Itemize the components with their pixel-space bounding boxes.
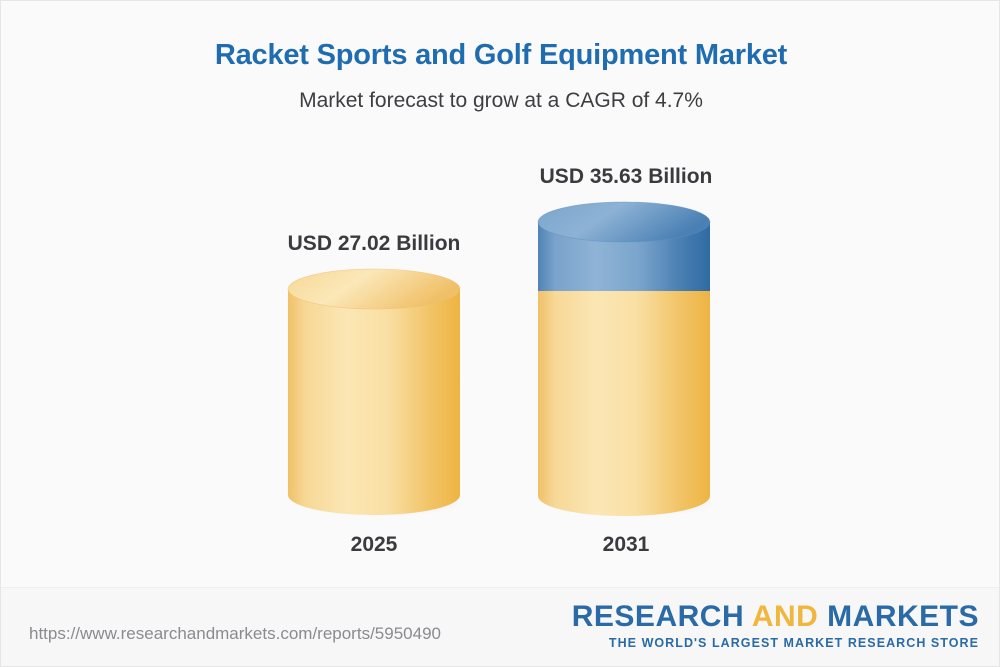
logo-word-and: AND (752, 600, 819, 633)
logo-word-markets: MARKETS (818, 600, 979, 633)
bar-category-label-2025: 2025 (244, 533, 504, 557)
chart-canvas: Racket Sports and Golf Equipment Market … (0, 0, 1000, 667)
logo-wordmark: RESEARCH AND MARKETS (572, 602, 979, 633)
research-and-markets-logo[interactable]: RESEARCH AND MARKETS THE WORLD'S LARGEST… (572, 602, 979, 650)
cylinder-segment-base-2031 (538, 291, 710, 516)
bar-value-label-2031: USD 35.63 Billion (496, 165, 756, 189)
cylinder-bar-2031[interactable] (536, 200, 716, 518)
footer: https://www.researchandmarkets.com/repor… (1, 587, 1000, 666)
report-url-link[interactable]: https://www.researchandmarkets.com/repor… (29, 624, 441, 644)
logo-tagline: THE WORLD'S LARGEST MARKET RESEARCH STOR… (572, 636, 979, 650)
plot-area: USD 27.02 Billion (1, 1, 1000, 601)
cylinder-bar-2025[interactable] (286, 267, 466, 517)
logo-word-research: RESEARCH (572, 600, 752, 633)
bar-category-label-2031: 2031 (496, 533, 756, 557)
bar-value-label-2025: USD 27.02 Billion (244, 232, 504, 256)
